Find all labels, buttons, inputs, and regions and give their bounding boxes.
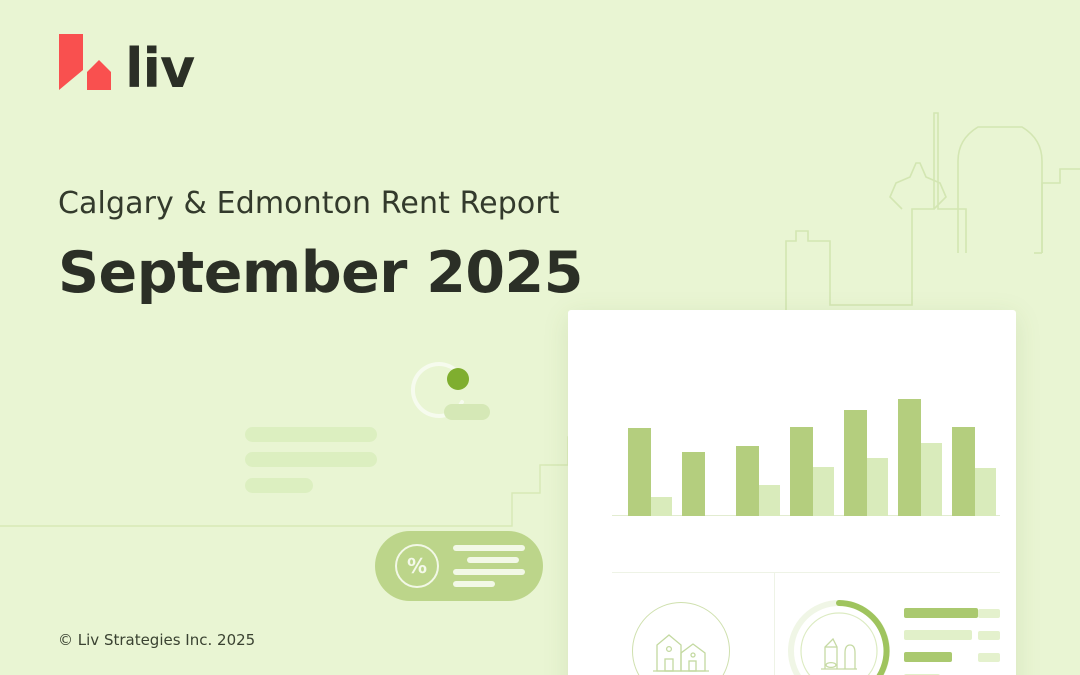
stat-bar	[904, 630, 972, 640]
chart-bar	[628, 428, 651, 516]
two-houses-circle	[632, 602, 730, 675]
calgary-skyline-icon	[770, 95, 1080, 335]
chart-bar	[651, 497, 672, 516]
card-divider-vertical	[774, 572, 775, 675]
percent-badge-lines	[453, 545, 525, 587]
report-cover: % liv Calgary & Edmonton Rent Report Sep…	[0, 0, 1080, 675]
olive-dot	[447, 368, 469, 390]
percent-badge: %	[375, 531, 543, 601]
chart-bar	[790, 427, 813, 516]
stat-pill	[978, 653, 1000, 662]
donut-progress	[787, 599, 891, 675]
stat-row	[904, 608, 1000, 618]
chart-bar	[952, 427, 975, 516]
bar-chart	[612, 364, 1000, 516]
partial-ring-icon	[408, 358, 470, 420]
skeleton-line-2	[245, 452, 377, 467]
percent-line	[453, 581, 495, 587]
copyright-text: © Liv Strategies Inc. 2025	[58, 631, 255, 649]
percent-line	[467, 557, 519, 563]
two-houses-icon	[653, 629, 709, 673]
stat-row	[904, 630, 1000, 640]
staircase-line	[0, 338, 580, 534]
liv-wordmark: liv	[125, 43, 194, 94]
mini-pill	[444, 404, 490, 420]
percent-icon: %	[395, 544, 439, 588]
stat-bar	[904, 652, 952, 662]
chart-bar	[921, 443, 942, 516]
stat-pill	[978, 609, 1000, 618]
dashboard-preview-card	[568, 310, 1016, 675]
stat-row	[904, 652, 1000, 662]
chart-bar	[736, 446, 759, 516]
chart-bar	[975, 468, 996, 516]
chart-bar	[844, 410, 867, 516]
stat-bar	[904, 608, 978, 618]
skeleton-line-1	[245, 427, 377, 442]
liv-logo[interactable]: liv	[55, 32, 194, 94]
chart-bar	[759, 485, 780, 516]
chart-bar	[898, 399, 921, 516]
page-title: September 2025	[58, 240, 583, 306]
skeleton-line-3	[245, 478, 313, 493]
liv-house-mark-icon	[55, 32, 111, 94]
stat-pill	[978, 631, 1000, 640]
chart-bar	[813, 467, 834, 516]
chart-bar	[682, 452, 705, 516]
report-subtitle: Calgary & Edmonton Rent Report	[58, 186, 560, 221]
stat-bar-list	[904, 608, 1000, 675]
card-body	[574, 316, 1010, 675]
percent-line	[453, 569, 525, 575]
chart-bar	[867, 458, 888, 516]
percent-line	[453, 545, 525, 551]
card-divider-horizontal	[612, 572, 1000, 573]
